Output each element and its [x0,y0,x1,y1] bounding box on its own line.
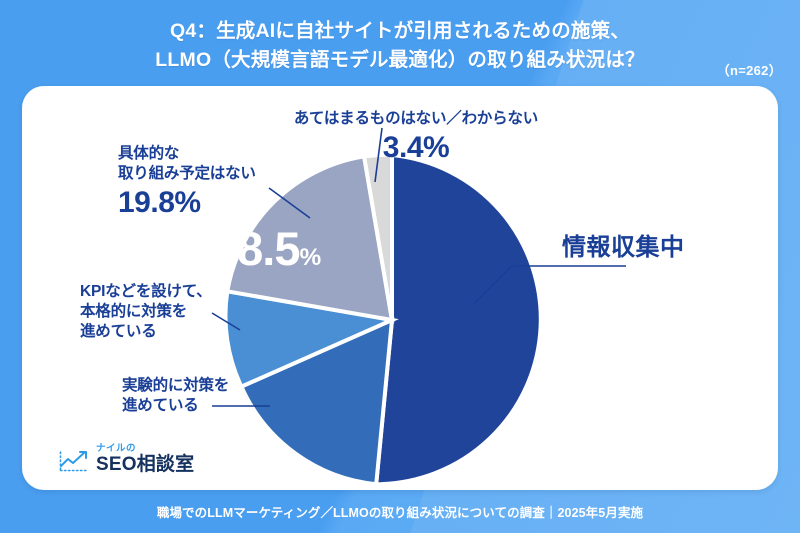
callout-label-noplan-unit: % [174,186,200,219]
callout-label-noplan-line1: 具体的な [118,144,256,164]
callout-label-experimental-line1: 実験的に対策を [122,376,229,396]
callout-label-kpi-line3: 進めている [80,322,212,342]
callout-label-noplan-number: 19.8 [118,186,174,219]
brand-logo[interactable]: ナイルの SEO相談室 [58,444,194,475]
pie-value-collecting: 48.5% [212,221,321,276]
infographic-slide: Q4：生成AIに自社サイトが引用されるための施策、 LLMO（大規模言語モデル最… [0,0,800,533]
callout-label-collecting: 情報収集中 [562,233,685,264]
callout-label-noplan: 具体的な 取り組み予定はない 19.8% [118,144,256,222]
sample-size-note: （n=262） [717,60,782,79]
pie-chart: 48.5% 19.8% 9.2% あてはまるものはない／わからない 3.4% 具… [22,86,778,490]
header: Q4：生成AIに自社サイトが引用されるための施策、 LLMO（大規模言語モデル最… [0,0,800,92]
brand-logo-kana: ナイルの [96,444,194,454]
callout-label-experimental-line2: 進めている [122,396,229,416]
pie-slices [225,155,540,484]
callout-label-kpi-line2: 本格的に対策を [80,302,212,322]
callout-label-none-value: 3.4% [383,144,449,161]
chart-card: 48.5% 19.8% 9.2% あてはまるものはない／わからない 3.4% 具… [22,86,778,490]
page-title-line2: LLMO（大規模言語モデル最適化）の取り組み状況は？ [0,46,800,75]
callout-label-noplan-line2: 取り組み予定はない [118,164,256,184]
pie-value-kpi-number: 9.2 [40,254,79,287]
page-title-line1: Q4：生成AIに自社サイトが引用されるための施策、 [170,20,630,42]
callout-label-kpi: KPIなどを設けて、 本格的に対策を 進めている [80,282,212,341]
callout-label-kpi-line1: KPIなどを設けて、 [80,282,212,302]
footer: 職場でのLLMマーケティング／LLMOの取り組み状況についての調査｜2025年5… [0,490,800,533]
callout-label-none-number: 3.4 [383,131,423,164]
chart-line-up-icon [58,448,90,474]
callout-label-noplan-value: 19.8% [118,199,229,216]
pie-slice-collecting[interactable] [376,155,541,484]
pie-value-collecting-number: 48.5 [212,222,299,275]
pie-value-collecting-unit: % [299,244,321,271]
brand-logo-text: ナイルの SEO相談室 [96,444,194,475]
callout-label-none-unit: % [423,131,449,164]
page-title: Q4：生成AIに自社サイトが引用されるための施策、 LLMO（大規模言語モデル最… [0,17,800,75]
callout-label-none: あてはまるものはない／わからない 3.4% [266,109,566,167]
callout-label-none-text: あてはまるものはない／わからない [266,109,566,129]
brand-logo-name: SEO相談室 [96,455,194,474]
callout-label-collecting-text: 情報収集中 [562,233,685,264]
footer-source-text: 職場でのLLMマーケティング／LLMOの取り組み状況についての調査｜2025年5… [157,502,643,521]
callout-label-experimental: 実験的に対策を 進めている [122,376,229,416]
